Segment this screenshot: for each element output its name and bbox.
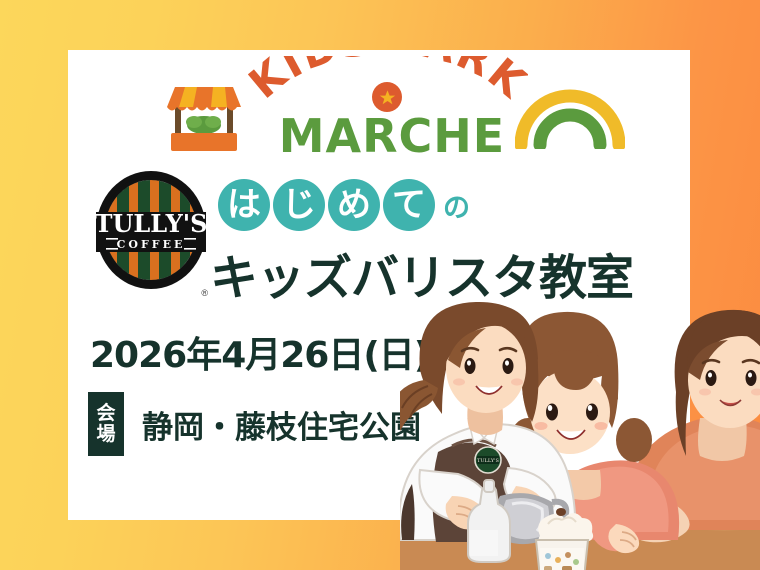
main-title: キッズバリスタ教室 — [210, 238, 690, 308]
brand-logo-row: KIDS PARK MARCHE — [68, 50, 690, 170]
hajimete-char-3: て — [383, 179, 435, 231]
venue-name: 静岡・藤枝住宅公園 — [142, 402, 421, 447]
hajimete-suffix: の — [443, 186, 470, 225]
star-icon — [372, 82, 402, 112]
event-date: 2026年4月26日(日) — [90, 326, 429, 378]
hajimete-char-0: は — [218, 179, 270, 231]
tullys-coffee-logo: TULLY'S COFFEE ® — [92, 170, 210, 300]
venue-badge-char-0: 会 — [96, 403, 115, 424]
hajimete-char-2: め — [328, 179, 380, 231]
venue-badge-char-1: 場 — [96, 424, 115, 445]
tullys-name: TULLY'S — [95, 209, 208, 238]
venue-row: 会 場 静岡・藤枝住宅公園 — [88, 392, 421, 456]
poster-card: KIDS PARK MARCHE — [68, 50, 690, 520]
venue-badge: 会 場 — [88, 392, 124, 456]
market-stall-icon — [165, 83, 243, 155]
hajimete-char-1: じ — [273, 179, 325, 231]
hajimete-row: は じ め て の — [218, 175, 470, 235]
registered-mark: ® — [201, 288, 208, 298]
tullys-sub: COFFEE — [117, 238, 186, 251]
rainbow-icon — [515, 83, 625, 149]
marche-wordmark: MARCHE — [248, 113, 536, 159]
